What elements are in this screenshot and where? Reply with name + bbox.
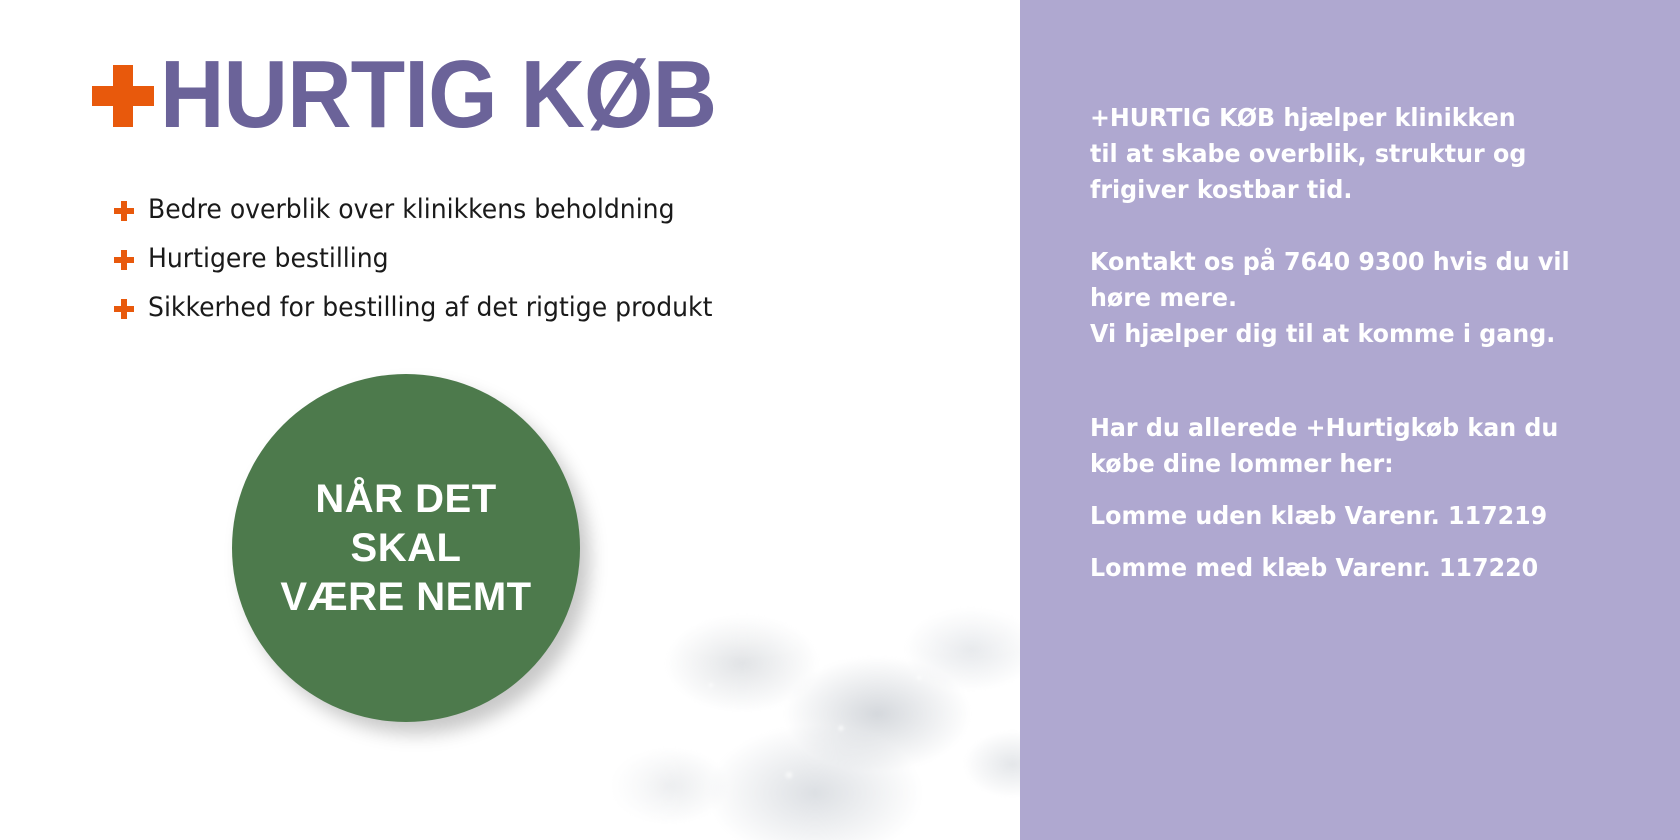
list-item: Hurtigere bestilling (114, 234, 914, 283)
page-title: HURTIG KØB (92, 52, 758, 138)
product-line-2: Lomme med klæb Varenr. 117220 (1090, 550, 1622, 586)
plus-icon (92, 65, 154, 127)
page-title-text: HURTIG KØB (160, 47, 716, 143)
right-panel-content: +HURTIG KØB hjælper klinikken til at ska… (1090, 100, 1650, 586)
plus-icon (114, 299, 134, 319)
existing-suffix: kan du (1459, 413, 1558, 442)
badge-line-1: NÅR DET (315, 475, 496, 524)
intro-paragraph: +HURTIG KØB hjælper klinikken til at ska… (1090, 100, 1622, 208)
status-badge: NÅR DET SKAL VÆRE NEMT (232, 374, 580, 722)
feature-list: Bedre overblik over klinikkens beholdnin… (114, 185, 914, 332)
intro-line3: frigiver kostbar tid. (1090, 175, 1352, 204)
list-item-label: Hurtigere bestilling (148, 243, 389, 275)
contact-line3: Vi hjælper dig til at komme i gang. (1090, 319, 1555, 348)
list-item-label: Sikkerhed for bestilling af det rigtige … (148, 292, 712, 324)
existing-prefix: Har du allerede (1090, 413, 1306, 442)
slide-canvas: HURTIG KØB Bedre overblik over klinikken… (0, 0, 1680, 840)
badge-line-2: SKAL (351, 524, 462, 573)
product-line-1: Lomme uden klæb Varenr. 117219 (1090, 498, 1622, 534)
contact-phone: 7640 9300 (1284, 247, 1424, 276)
existing-customer-paragraph: Har du allerede +Hurtigkøb kan du købe d… (1090, 410, 1622, 482)
existing-line2: købe dine lommer her: (1090, 449, 1394, 478)
right-panel: +HURTIG KØB hjælper klinikken til at ska… (1020, 0, 1680, 840)
left-panel: HURTIG KØB Bedre overblik over klinikken… (0, 0, 1020, 840)
contact-suffix: hvis du vil (1425, 247, 1570, 276)
intro-line1-rest: hjælper klinikken (1275, 103, 1516, 132)
contact-paragraph: Kontakt os på 7640 9300 hvis du vil høre… (1090, 244, 1622, 352)
intro-brand: +HURTIG KØB (1090, 103, 1275, 132)
product-photo-fade (540, 490, 1020, 840)
existing-brand: +Hurtigkøb (1306, 413, 1459, 442)
product-photo (555, 505, 1020, 840)
list-item-label: Bedre overblik over klinikkens beholdnin… (148, 194, 675, 226)
list-item: Bedre overblik over klinikkens beholdnin… (114, 185, 914, 234)
contact-prefix: Kontakt os på (1090, 247, 1284, 276)
intro-line2: til at skabe overblik, struktur og (1090, 139, 1526, 168)
list-item: Sikkerhed for bestilling af det rigtige … (114, 283, 914, 332)
contact-line2: høre mere. (1090, 283, 1237, 312)
plus-icon (114, 250, 134, 270)
badge-line-3: VÆRE NEMT (280, 573, 531, 622)
plus-icon (114, 201, 134, 221)
